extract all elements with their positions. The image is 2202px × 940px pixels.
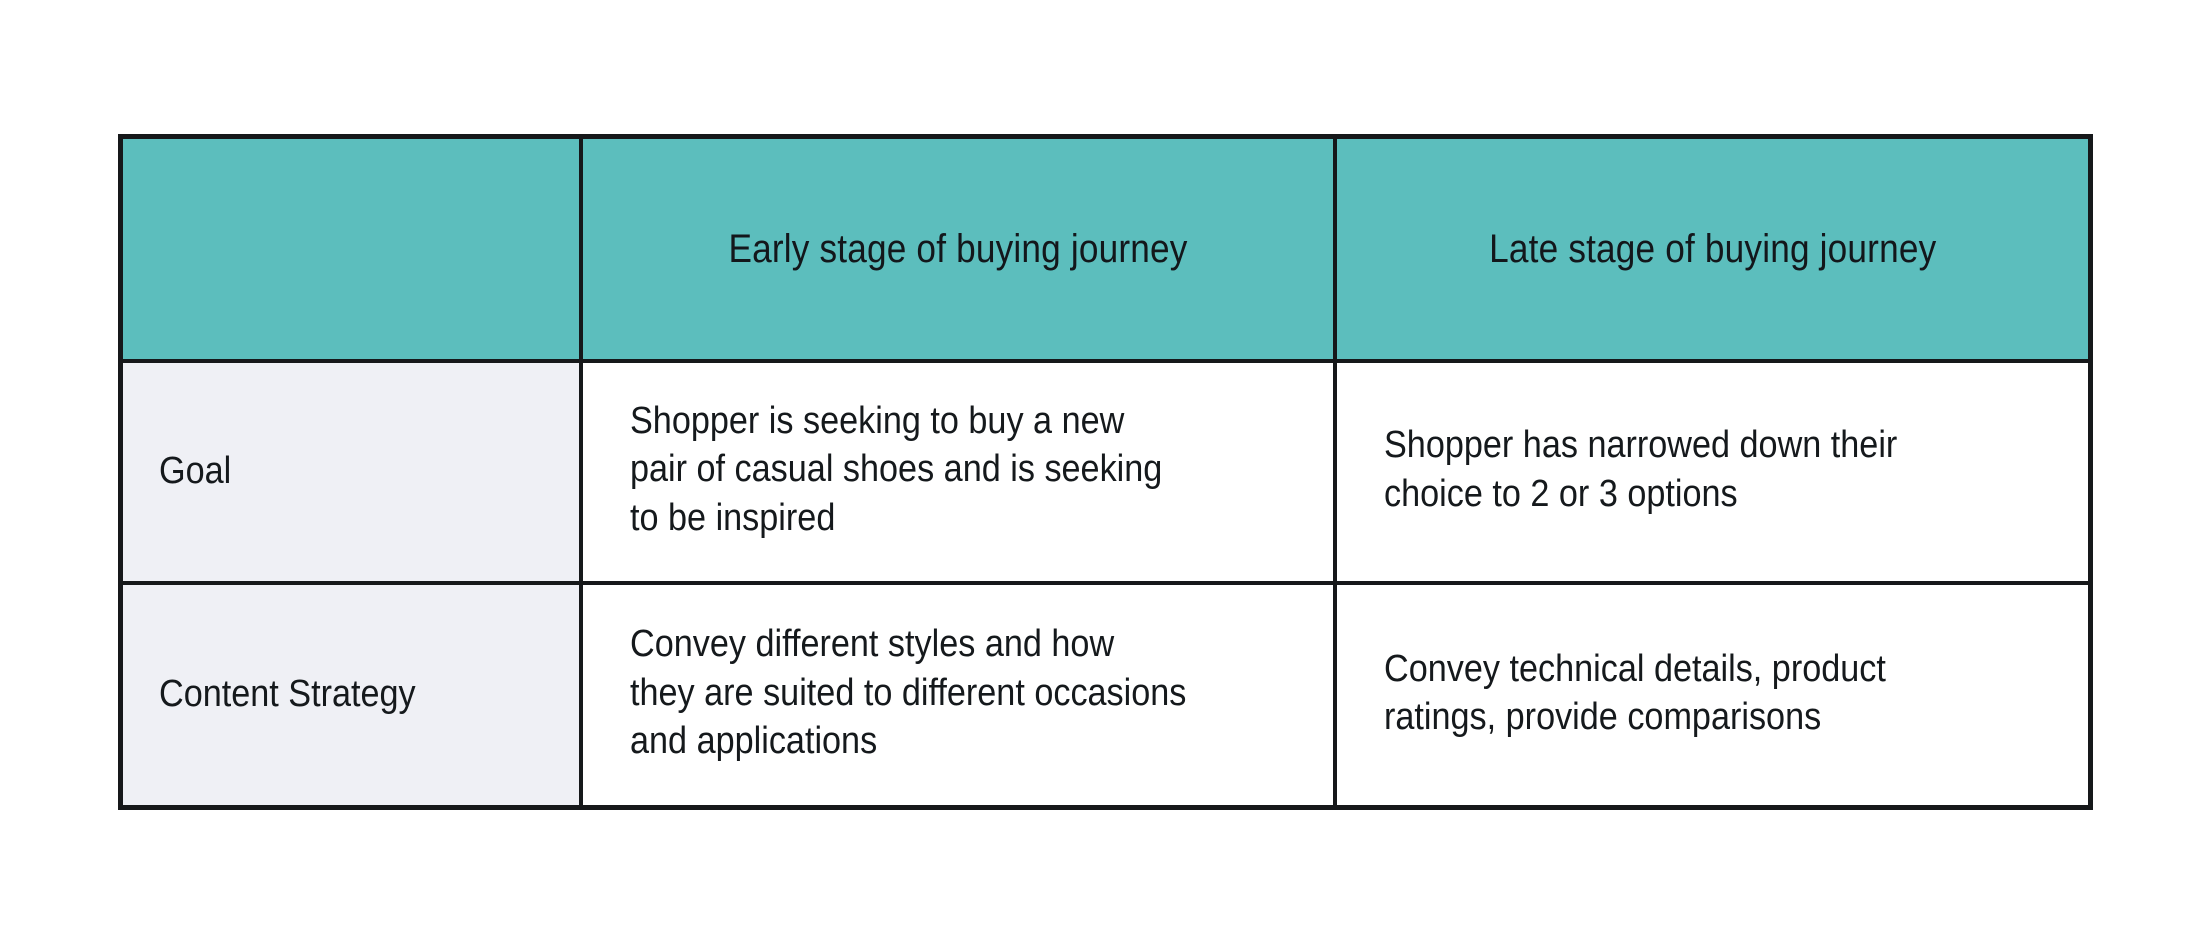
cell-content-strategy-early-stage-text: Convey different styles and how they are… <box>630 620 1239 765</box>
cell-content-strategy-late-stage: Convey technical details, product rating… <box>1335 583 2091 808</box>
buying-journey-table: Early stage of buying journey Late stage… <box>118 134 2093 810</box>
row-label-content-strategy-text: Content Strategy <box>159 672 416 718</box>
header-cell-late-stage: Late stage of buying journey <box>1335 137 2091 361</box>
header-late-stage-label: Late stage of buying journey <box>1403 225 2022 273</box>
cell-goal-late-stage-text: Shopper has narrowed down their choice t… <box>1384 421 1995 518</box>
row-label-goal: Goal <box>121 361 581 583</box>
header-early-stage-label: Early stage of buying journey <box>649 225 1267 273</box>
page-canvas: Early stage of buying journey Late stage… <box>0 0 2202 940</box>
cell-content-strategy-early-stage: Convey different styles and how they are… <box>581 583 1335 808</box>
table-header: Early stage of buying journey Late stage… <box>121 137 2091 361</box>
cell-goal-early-stage-text: Shopper is seeking to buy a new pair of … <box>630 397 1239 542</box>
table-row-goal: Goal Shopper is seeking to buy a new pai… <box>121 361 2091 583</box>
table-body: Goal Shopper is seeking to buy a new pai… <box>121 361 2091 808</box>
cell-content-strategy-late-stage-text: Convey technical details, product rating… <box>1384 645 1995 742</box>
table-header-row: Early stage of buying journey Late stage… <box>121 137 2091 361</box>
cell-goal-late-stage: Shopper has narrowed down their choice t… <box>1335 361 2091 583</box>
header-cell-early-stage: Early stage of buying journey <box>581 137 1335 361</box>
table-row-content-strategy: Content Strategy Convey different styles… <box>121 583 2091 808</box>
cell-goal-early-stage: Shopper is seeking to buy a new pair of … <box>581 361 1335 583</box>
row-label-content-strategy: Content Strategy <box>121 583 581 808</box>
row-label-goal-text: Goal <box>159 449 231 495</box>
header-cell-corner-blank <box>121 137 581 361</box>
